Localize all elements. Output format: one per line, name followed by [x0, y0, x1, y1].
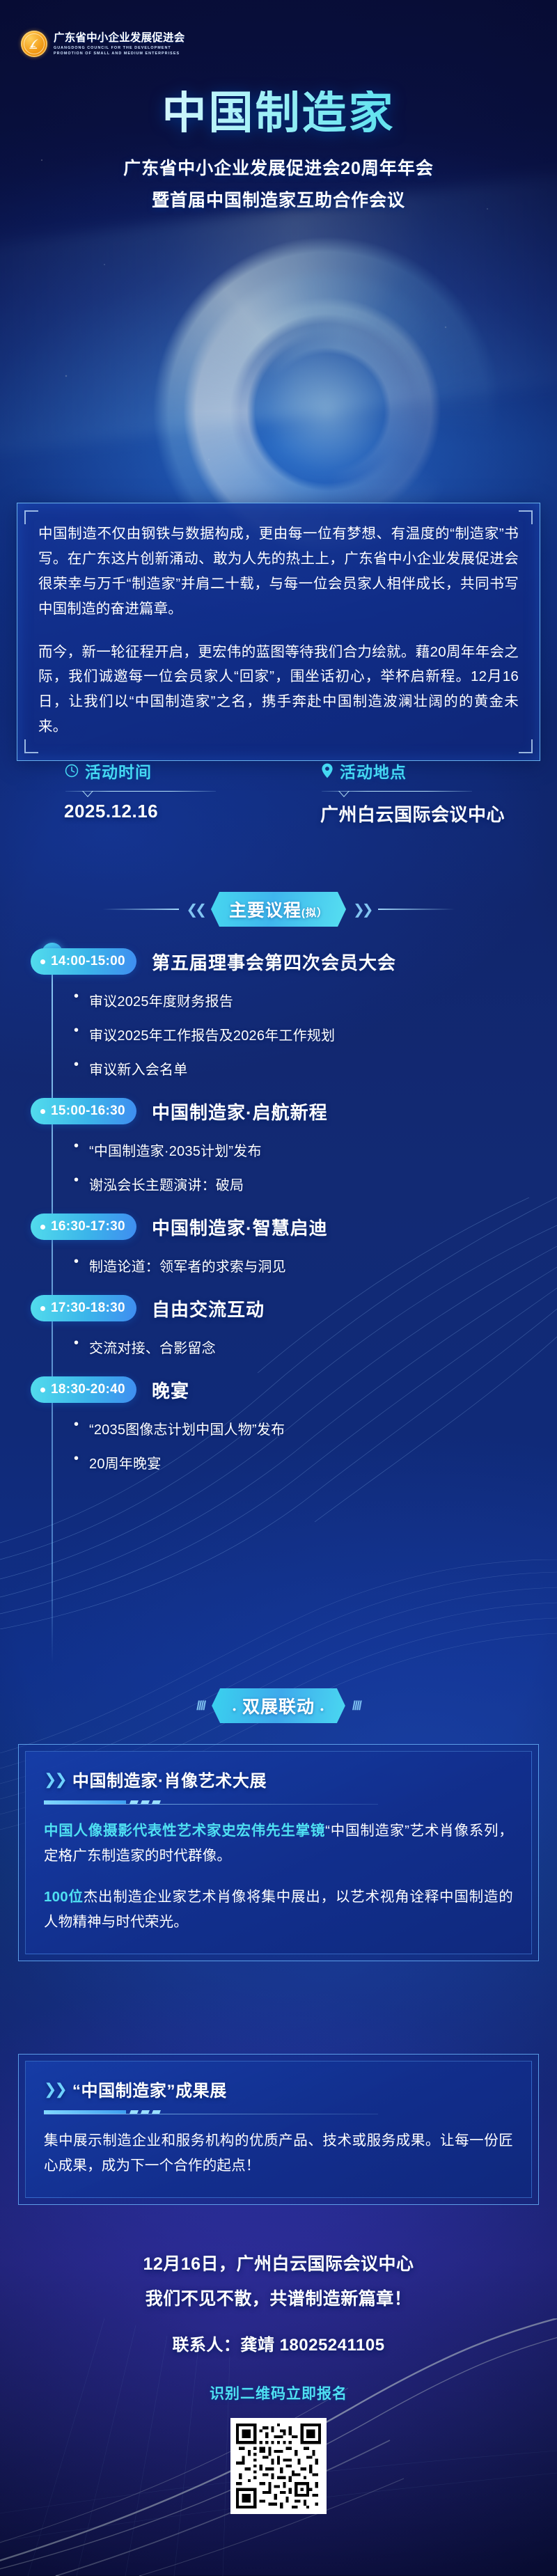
- org-name-en-line1: GUANGDONG COUNCIL FOR THE DEVELOPMENT: [54, 46, 185, 50]
- corner-bracket-top-left: [24, 510, 38, 524]
- exhibition-card-title: “中国制造家”成果展: [72, 2077, 227, 2101]
- exhibition-banner-pill: • 双展联动 •: [212, 1688, 345, 1723]
- corner-bracket-top-right: [519, 510, 533, 524]
- agenda-time-text: 18:30-20:40: [51, 1382, 125, 1397]
- chevron-left-decor-icon: ❮❮: [186, 901, 204, 918]
- hero-subtitle-line2: 暨首届中国制造家互助合作会议: [0, 187, 557, 212]
- agenda-time-badge: 14:00-15:00: [31, 948, 136, 975]
- exhibition-banner-title: 双展联动: [242, 1697, 315, 1717]
- intro-paragraph-1: 中国制造不仅由钢铁与数据构成，更由每一位有梦想、有温度的“制造家”书写。在广东这…: [38, 521, 519, 622]
- agenda-slot-title: 中国制造家·智慧启迪: [152, 1214, 328, 1240]
- exhibition-section-banner: //// • 双展联动 • ////: [0, 1688, 557, 1723]
- agenda-slot[interactable]: 14:00-15:00 第五届理事会第四次会员大会 审议2025年度财务报告 审…: [0, 948, 557, 1078]
- exhibition-card-portrait[interactable]: ❯❯ 中国制造家·肖像艺术大展 中国人像摄影代表性艺术家史宏伟先生掌镜“中国制造…: [18, 1744, 539, 1961]
- event-time-label: 活动时间: [85, 759, 152, 783]
- agenda-slot-items: 交流对接、合影留念: [74, 1337, 557, 1357]
- bullet-dot-right-icon: •: [320, 1704, 324, 1715]
- agenda-slot-items: 制造论道：领军者的求索与洞见: [74, 1255, 557, 1275]
- closing-block: 12月16日，广州白云国际会议中心 我们不见不散，共谱制造新篇章！: [0, 2250, 557, 2310]
- agenda-time-badge: 17:30-18:30: [31, 1295, 136, 1321]
- agenda-list: 14:00-15:00 第五届理事会第四次会员大会 审议2025年度财务报告 审…: [0, 948, 557, 1486]
- tick-marks-left-icon: ////: [196, 1699, 205, 1713]
- agenda-slot[interactable]: 18:30-20:40 晚宴 “2035图像志计划中国人物”发布 20周年晚宴: [0, 1376, 557, 1472]
- divider-time: [65, 788, 216, 796]
- exhibition-body-2: 杰出制造企业家艺术肖像将集中展出，以艺术视角诠释中国制造的人物精神与时代荣光。: [44, 1889, 513, 1930]
- double-chevron-right-icon: ❯❯: [44, 1770, 65, 1789]
- hero-subtitle-line1: 广东省中小企业发展促进会20周年年会: [0, 155, 557, 180]
- exhibition-title-rule: [44, 1800, 513, 1805]
- agenda-slot[interactable]: 17:30-18:30 自由交流互动 交流对接、合影留念: [0, 1295, 557, 1357]
- qr-instruction-label: 识别二维码立即报名: [0, 2382, 557, 2403]
- agenda-slot-title: 自由交流互动: [152, 1296, 265, 1321]
- agenda-slot-items: 审议2025年度财务报告 审议2025年工作报告及2026年工作规划 审议新入会…: [74, 990, 557, 1078]
- agenda-banner-pill: 主要议程(拟）: [211, 892, 346, 927]
- agenda-time-badge: 16:30-17:30: [31, 1214, 136, 1240]
- exhibition-title-rule: [44, 2110, 513, 2114]
- list-item: 审议新入会名单: [74, 1058, 557, 1078]
- exhibition-paragraph-2: 100位杰出制造企业家艺术肖像将集中展出，以艺术视角诠释中国制造的人物精神与时代…: [44, 1885, 513, 1935]
- event-place-value: 广州白云国际会议中心: [320, 801, 557, 826]
- exhibition-paragraph-1: 集中展示制造企业和服务机构的优质产品、技术或服务成果。让每一份匠心成果，成为下一…: [44, 2128, 513, 2179]
- closing-line-1: 12月16日，广州白云国际会议中心: [0, 2250, 557, 2275]
- list-item: “2035图像志计划中国人物”发布: [74, 1418, 557, 1438]
- agenda-banner-suffix: (拟）: [301, 907, 328, 919]
- corner-bracket-bottom-right: [519, 739, 533, 753]
- agenda-slot-title: 第五届理事会第四次会员大会: [152, 949, 396, 975]
- intro-card: 中国制造不仅由钢铁与数据构成，更由每一位有梦想、有温度的“制造家”书写。在广东这…: [17, 503, 540, 761]
- agenda-time-text: 15:00-16:30: [51, 1104, 125, 1119]
- banner-dash-left: [102, 909, 179, 909]
- exhibition-highlight-1: 中国人像摄影代表性艺术家史宏伟先生掌镜: [44, 1823, 325, 1839]
- event-time-value: 2025.12.16: [64, 801, 301, 822]
- list-item: 交流对接、合影留念: [74, 1337, 557, 1357]
- list-item: 审议2025年工作报告及2026年工作规划: [74, 1024, 557, 1044]
- list-item: 制造论道：领军者的求索与洞见: [74, 1255, 557, 1275]
- closing-line-2: 我们不见不散，共谱制造新篇章！: [0, 2285, 557, 2310]
- exhibition-card-achievements[interactable]: ❯❯ “中国制造家”成果展 集中展示制造企业和服务机构的优质产品、技术或服务成果…: [18, 2054, 539, 2205]
- location-pin-icon: [320, 762, 334, 779]
- event-time-block: 活动时间 2025.12.16: [0, 759, 301, 826]
- corner-bracket-bottom-left: [24, 739, 38, 753]
- list-item: 审议2025年度财务报告: [74, 990, 557, 1010]
- intro-paragraph-2: 而今，新一轮征程开启，更宏伟的蓝图等待我们合力绘就。藉20周年年会之际，我们诚邀…: [38, 640, 519, 740]
- list-item: “中国制造家·2035计划”发布: [74, 1140, 557, 1160]
- organization-header: 广东省中小企业发展促进会 GUANGDONG COUNCIL FOR THE D…: [21, 31, 185, 57]
- event-meta-row: 活动时间 2025.12.16 活动地点 广州白云国际会议中心: [0, 759, 557, 826]
- agenda-slot-items: “2035图像志计划中国人物”发布 20周年晚宴: [74, 1418, 557, 1472]
- agenda-slot[interactable]: 15:00-16:30 中国制造家·启航新程 “中国制造家·2035计划”发布 …: [0, 1098, 557, 1194]
- exhibition-body-1: 集中展示制造企业和服务机构的优质产品、技术或服务成果。让每一份匠心成果，成为下一…: [44, 2133, 513, 2174]
- event-place-block: 活动地点 广州白云国际会议中心: [301, 759, 557, 826]
- agenda-slot-title: 中国制造家·启航新程: [152, 1099, 328, 1124]
- agenda-section-banner: ❮❮ 主要议程(拟） ❯❯: [0, 892, 557, 927]
- exhibition-card-title: 中国制造家·肖像艺术大展: [72, 1767, 267, 1791]
- page-title: 中国制造家: [0, 91, 557, 135]
- bullet-dot-left-icon: •: [233, 1704, 237, 1715]
- clock-icon: [64, 763, 79, 778]
- agenda-time-text: 14:00-15:00: [51, 954, 125, 969]
- agenda-slot-items: “中国制造家·2035计划”发布 谢泓会长主题演讲：破局: [74, 1140, 557, 1194]
- org-name-cn: 广东省中小企业发展促进会: [54, 32, 185, 44]
- banner-dash-right: [378, 909, 455, 909]
- agenda-time-badge: 15:00-16:30: [31, 1098, 136, 1124]
- contact-info: 联系人：龚靖 18025241105: [0, 2331, 557, 2355]
- event-place-label: 活动地点: [340, 759, 407, 783]
- qr-code-icon[interactable]: [230, 2418, 327, 2514]
- agenda-slot[interactable]: 16:30-17:30 中国制造家·智慧启迪 制造论道：领军者的求索与洞见: [0, 1214, 557, 1275]
- org-emblem-icon: [21, 31, 47, 57]
- agenda-time-badge: 18:30-20:40: [31, 1376, 136, 1403]
- exhibition-paragraph-1: 中国人像摄影代表性艺术家史宏伟先生掌镜“中国制造家”艺术肖像系列，定格广东制造家…: [44, 1819, 513, 1869]
- agenda-banner-title: 主要议程: [229, 901, 301, 920]
- agenda-slot-title: 晚宴: [152, 1377, 189, 1403]
- exhibition-highlight-2: 100位: [44, 1889, 84, 1905]
- agenda-time-text: 17:30-18:30: [51, 1301, 125, 1316]
- double-chevron-right-icon: ❯❯: [44, 2080, 65, 2098]
- chevron-right-decor-icon: ❯❯: [353, 901, 371, 918]
- list-item: 谢泓会长主题演讲：破局: [74, 1174, 557, 1194]
- list-item: 20周年晚宴: [74, 1452, 557, 1472]
- org-name-en-line2: PROMOTION OF SMALL AND MEDIUM ENTERPRISE…: [54, 52, 185, 56]
- divider-place: [322, 788, 472, 796]
- agenda-time-text: 16:30-17:30: [51, 1219, 125, 1234]
- tick-marks-right-icon: ////: [352, 1699, 361, 1713]
